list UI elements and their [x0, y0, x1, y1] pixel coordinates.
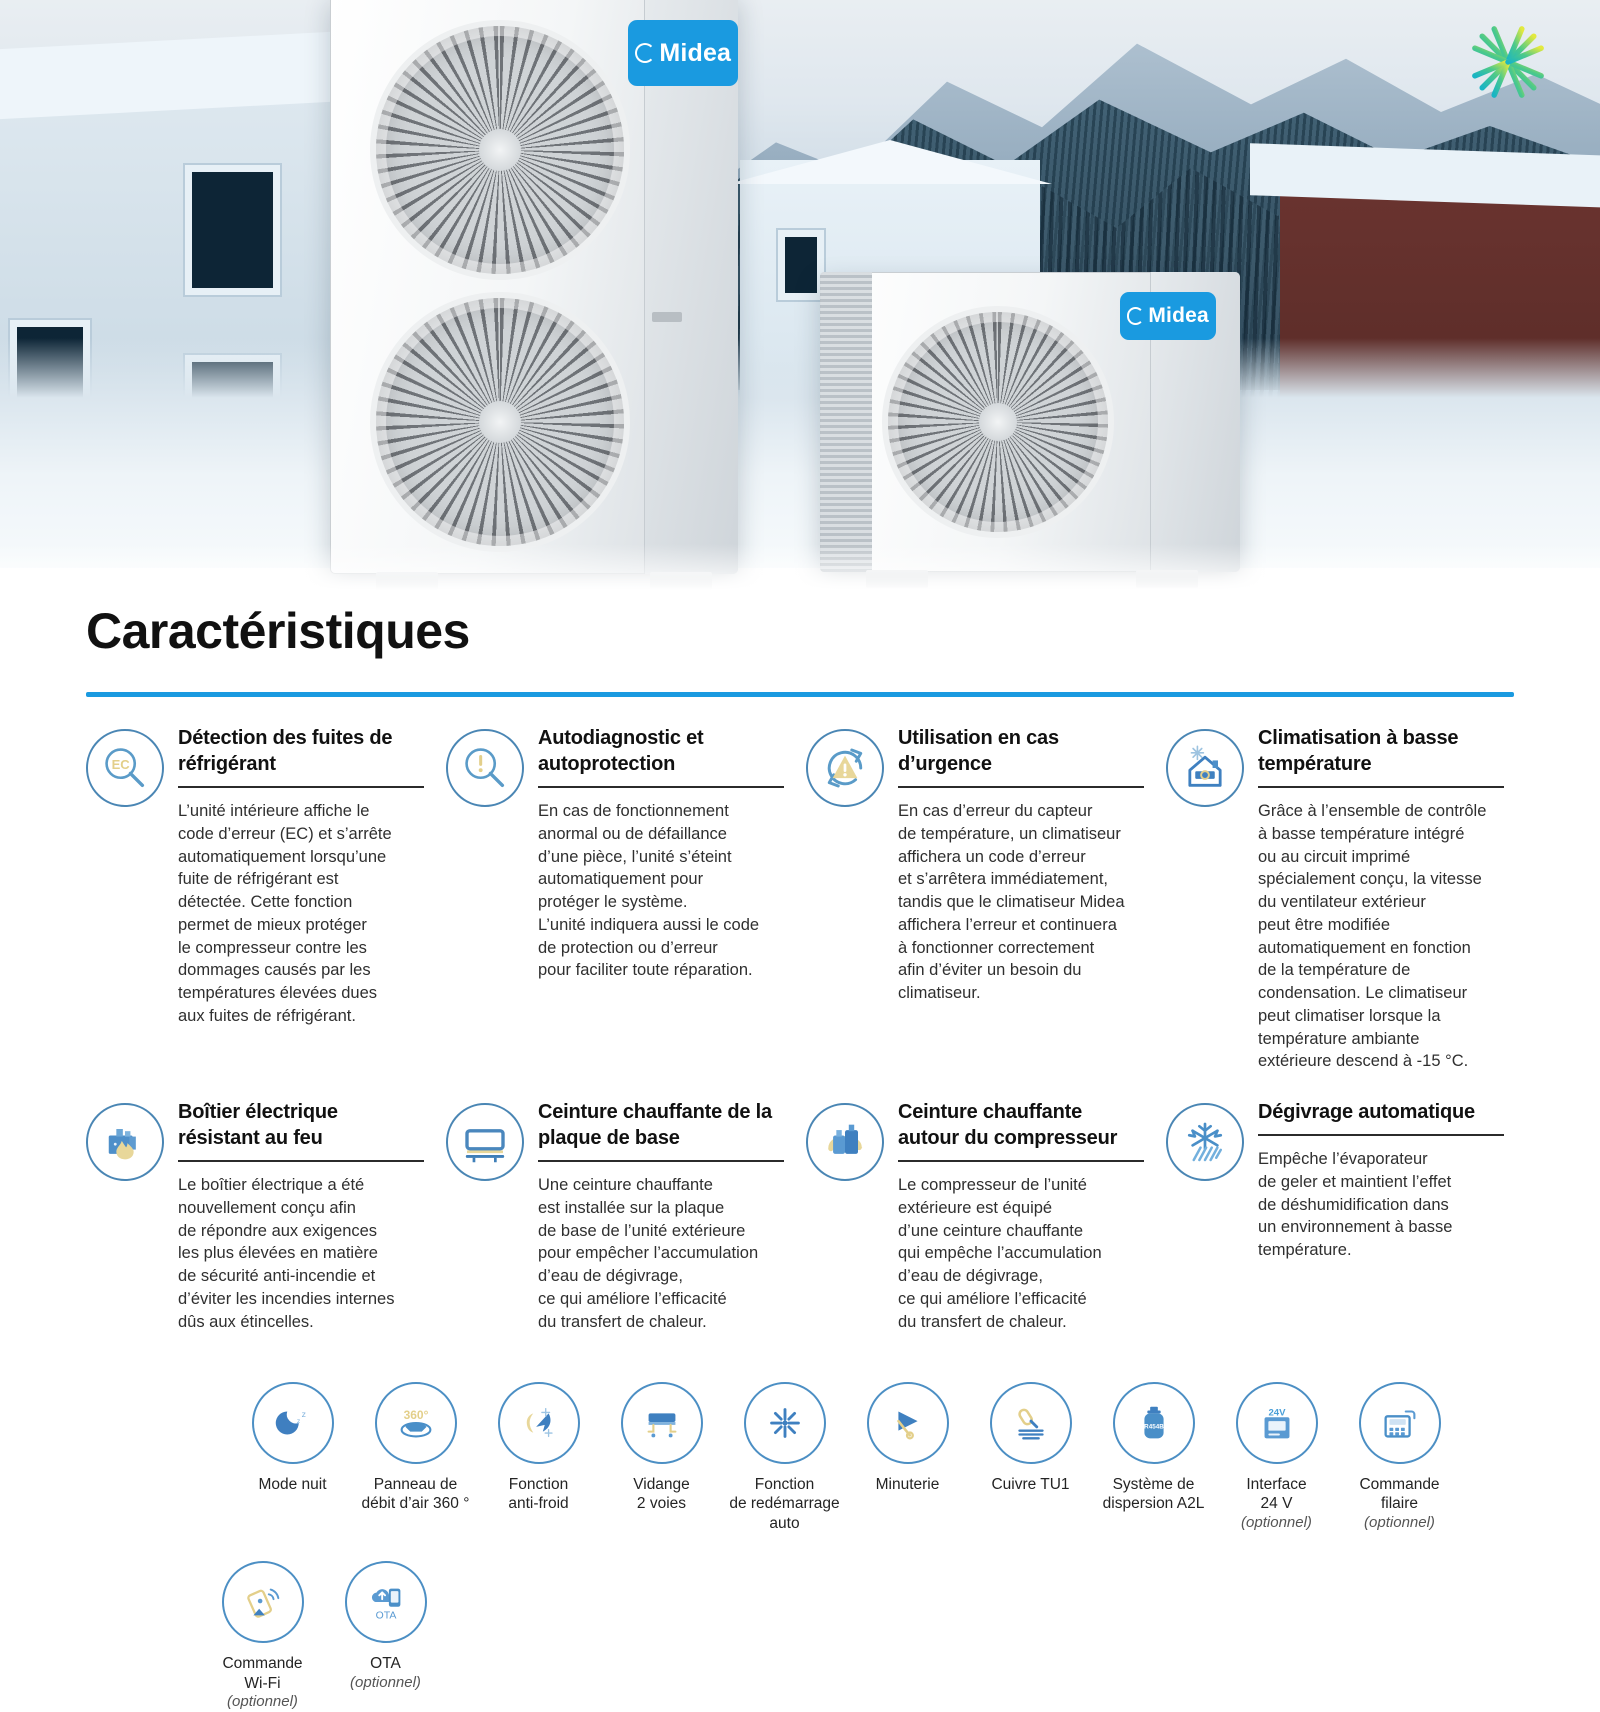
feature-title: Boîtier électrique résistant au feu [178, 1099, 424, 1151]
badge-a2l-dispersion: R454B Système de dispersion A2L [1092, 1382, 1215, 1514]
interface-24v-icon: 24V [1236, 1382, 1318, 1464]
badge-label: Commande filaire [1359, 1475, 1439, 1514]
features-section: Caractéristiques EC Détection des fuites… [0, 568, 1600, 1712]
feature-card: Dégivrage automatique Empêche l’évaporat… [1166, 1099, 1526, 1333]
refrigerant-cylinder-icon: R454B [1131, 1400, 1177, 1446]
window [778, 230, 824, 300]
feature-text: Une ceinture chauffante est installée su… [538, 1174, 784, 1333]
feature-text: En cas d’erreur du capteur de températur… [898, 800, 1144, 1005]
warning-cycle-icon [818, 741, 872, 795]
badge-label: Minuterie [876, 1475, 940, 1495]
magnifier-alert-icon [459, 742, 511, 794]
badge-optional-note: (optionnel) [227, 1693, 298, 1712]
feature-body: Autodiagnostic et autoprotection En cas … [538, 725, 784, 1073]
feature-divider [898, 786, 1144, 788]
feature-body: Ceinture chauffante autour du compresseu… [898, 1099, 1144, 1333]
midea-ring-icon [1127, 307, 1144, 324]
auto-restart-icon [744, 1382, 826, 1464]
feature-card: Boîtier électrique résistant au feu Le b… [86, 1099, 446, 1333]
title-underline-rule [86, 692, 1514, 697]
feature-title: Ceinture chauffante de la plaque de base [538, 1099, 784, 1151]
badge-night-mode: z z Mode nuit [231, 1382, 354, 1495]
feature-title: Utilisation en cas d’urgence [898, 725, 1144, 777]
fan-grille-top [370, 20, 630, 280]
low-temperature-cooling-icon [1166, 729, 1244, 807]
outdoor-unit-small: Midea [820, 272, 1240, 572]
features-grid: EC Détection des fuites de réfrigérant L… [86, 725, 1600, 1360]
badge-label: Cuivre TU1 [991, 1475, 1069, 1495]
hero-banner: Midea Midea [0, 0, 1600, 600]
badge-row-2: Commande Wi-Fi (optionnel) OTA OTA (opti… [201, 1561, 1516, 1712]
feature-card: Utilisation en cas d’urgence En cas d’er… [806, 725, 1166, 1073]
outdoor-unit-large: Midea [330, 0, 738, 574]
voltage-label: 24V [1268, 1407, 1286, 1418]
midea-wordmark: Midea [659, 39, 731, 68]
wifi-control-icon [222, 1561, 304, 1643]
feature-text: Grâce à l’ensemble de contrôle à basse t… [1258, 800, 1504, 1073]
feature-text: Le compresseur de l’unité extérieure est… [898, 1174, 1144, 1333]
phone-wifi-icon [240, 1579, 286, 1625]
badge-copper-tu1: Cuivre TU1 [969, 1382, 1092, 1495]
automatic-defrost-icon [1166, 1103, 1244, 1181]
badge-timer: Minuterie [846, 1382, 969, 1495]
ota-update-icon: OTA [345, 1561, 427, 1643]
feature-divider [538, 1160, 784, 1162]
window [185, 165, 280, 295]
badge-optional-note: (optionnel) [1241, 1514, 1312, 1533]
drain-pipes-icon [639, 1400, 685, 1446]
house-snowflake-icon [1179, 742, 1231, 794]
two-way-drainage-icon [621, 1382, 703, 1464]
moon-zzz-icon: z z [270, 1400, 316, 1446]
base-plate-heating-belt-icon [446, 1103, 524, 1181]
fan-hub [979, 403, 1017, 441]
copper-pipe-icon [1008, 1400, 1054, 1446]
badge-label: Commande Wi-Fi [222, 1654, 302, 1693]
cloud-phone-ota-icon: OTA [363, 1579, 409, 1625]
badge-label: Système de dispersion A2L [1103, 1475, 1205, 1514]
hero-photo [0, 0, 1600, 568]
snowflake-burst-logo-icon [1462, 16, 1554, 108]
feature-badges: z z Mode nuit 360° Panneau de débit d’ai… [86, 1382, 1516, 1712]
feature-title: Ceinture chauffante autour du compresseu… [898, 1099, 1144, 1151]
a2l-dispersion-icon: R454B [1113, 1382, 1195, 1464]
feature-divider [178, 1160, 424, 1162]
burst-star-icon [762, 1400, 808, 1446]
svg-text:EC: EC [112, 757, 131, 772]
feature-body: Dégivrage automatique Empêche l’évaporat… [1258, 1099, 1504, 1333]
unit-vent-slot [652, 312, 682, 322]
cold-air-arrow-icon [516, 1400, 562, 1446]
feature-title: Dégivrage automatique [1258, 1099, 1504, 1125]
badge-two-way-drainage: Vidange 2 voies [600, 1382, 723, 1514]
badge-label: Mode nuit [258, 1475, 326, 1495]
midea-logo-large: Midea [628, 20, 738, 86]
svg-text:360°: 360° [403, 1408, 428, 1422]
feature-card: Ceinture chauffante de la plaque de base… [446, 1099, 806, 1333]
badge-wifi-control: Commande Wi-Fi (optionnel) [201, 1561, 324, 1712]
badge-label: OTA [370, 1654, 401, 1674]
badge-label: Fonction de redémarrage auto [729, 1475, 839, 1534]
fireproof-electrical-box-icon [86, 1103, 164, 1181]
badge-interface-24v: 24V Interface 24 V (optionnel) [1215, 1382, 1338, 1533]
anti-cold-function-icon [498, 1382, 580, 1464]
feature-body: Ceinture chauffante de la plaque de base… [538, 1099, 784, 1333]
snow-field [0, 338, 1600, 568]
controller-panel-icon: 24V [1254, 1400, 1300, 1446]
badge-row-1: z z Mode nuit 360° Panneau de débit d’ai… [231, 1382, 1516, 1534]
badge-label: Panneau de débit d’air 360 ° [362, 1475, 470, 1514]
panel-360-icon: 360° [393, 1400, 439, 1446]
timer-icon [867, 1382, 949, 1464]
unit-heat-exchanger-fins [820, 272, 872, 572]
feature-body: Climatisation à basse température Grâce … [1258, 725, 1504, 1073]
feature-title: Détection des fuites de réfrigérant [178, 725, 424, 777]
badge-optional-note: (optionnel) [350, 1674, 421, 1693]
fan-hub [479, 401, 521, 443]
feature-card: EC Détection des fuites de réfrigérant L… [86, 725, 446, 1073]
feature-title: Climatisation à basse température [1258, 725, 1504, 777]
feature-divider [538, 786, 784, 788]
svg-text:z: z [296, 1418, 300, 1425]
night-mode-icon: z z [252, 1382, 334, 1464]
feature-divider [898, 1160, 1144, 1162]
svg-text:z: z [301, 1409, 305, 1419]
feature-card: Climatisation à basse température Grâce … [1166, 725, 1526, 1073]
wired-controller-icon [1359, 1382, 1441, 1464]
keypad-controller-icon [1377, 1400, 1423, 1446]
feature-title: Autodiagnostic et autoprotection [538, 725, 784, 777]
fan-grille [882, 306, 1114, 538]
feature-text: En cas de fonctionnement anormal ou de d… [538, 800, 784, 982]
badge-anti-cold: Fonction anti-froid [477, 1382, 600, 1514]
feature-card: Ceinture chauffante autour du compresseu… [806, 1099, 1166, 1333]
badge-ota: OTA OTA (optionnel) [324, 1561, 447, 1692]
airflow-360-panel-icon: 360° [375, 1382, 457, 1464]
snowflake-melting-icon [1178, 1115, 1232, 1169]
feature-body: Boîtier électrique résistant au feu Le b… [178, 1099, 424, 1333]
badge-optional-note: (optionnel) [1364, 1514, 1435, 1533]
self-diagnosis-icon [446, 729, 524, 807]
feature-divider [1258, 1134, 1504, 1136]
badge-label: Vidange 2 voies [633, 1475, 690, 1514]
ota-label: OTA [375, 1609, 396, 1621]
copper-tu1-icon [990, 1382, 1072, 1464]
cylinder-label: R454B [1144, 1423, 1164, 1430]
electrical-box-flame-icon [99, 1116, 151, 1168]
feature-body: Détection des fuites de réfrigérant L’un… [178, 725, 424, 1073]
compressor-heating-belt-icon [806, 1103, 884, 1181]
midea-wordmark: Midea [1148, 304, 1209, 328]
feature-card: Autodiagnostic et autoprotection En cas … [446, 725, 806, 1073]
page-title: Caractéristiques [86, 602, 1600, 660]
badge-auto-restart: Fonction de redémarrage auto [723, 1382, 846, 1534]
feature-body: Utilisation en cas d’urgence En cas d’er… [898, 725, 1144, 1073]
feature-divider [178, 786, 424, 788]
base-plate-icon [458, 1115, 512, 1169]
midea-logo-small: Midea [1120, 292, 1216, 340]
feature-text: Le boîtier électrique a été nouvellement… [178, 1174, 424, 1333]
compressor-belt-icon [819, 1116, 871, 1168]
fan-hub [479, 129, 521, 171]
unit-side-panel [644, 0, 738, 574]
clock-hand-icon [885, 1400, 931, 1446]
badge-label: Fonction anti-froid [508, 1475, 568, 1514]
feature-text: L’unité intérieure affiche le code d’err… [178, 800, 424, 1028]
badge-label: Interface 24 V [1246, 1475, 1306, 1514]
refrigerant-leak-detection-icon: EC [86, 729, 164, 807]
fan-grille-bottom [370, 292, 630, 552]
emergency-operation-icon [806, 729, 884, 807]
midea-ring-icon [635, 43, 656, 64]
feature-divider [1258, 786, 1504, 788]
feature-text: Empêche l’évaporateur de geler et mainti… [1258, 1148, 1504, 1262]
magnifier-ec-icon: EC [99, 742, 151, 794]
badge-airflow-360: 360° Panneau de débit d’air 360 ° [354, 1382, 477, 1514]
badge-wired-controller: Commande filaire (optionnel) [1338, 1382, 1461, 1533]
